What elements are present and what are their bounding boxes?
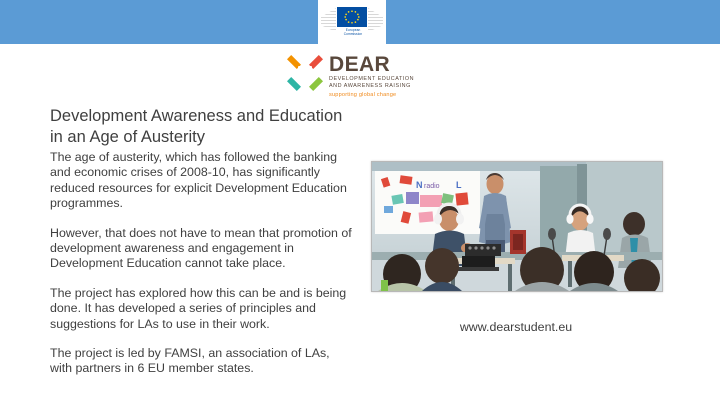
dear-mark-center — [298, 66, 312, 80]
dear-cross-mark-icon — [287, 55, 323, 91]
european-commission-logo: European Commission — [318, 0, 386, 44]
svg-text:radio: radio — [424, 183, 440, 190]
page-title-line1: Development Awareness and Education — [50, 106, 390, 127]
eu-flag-icon — [337, 7, 367, 27]
dear-wordmark: DEAR — [329, 54, 414, 76]
body-paragraph: However, that does not have to mean that… — [50, 226, 355, 272]
dear-subtitle-line1: DEVELOPMENT EDUCATION — [329, 76, 414, 83]
body-paragraph: The project is led by FAMSI, an associat… — [50, 346, 355, 377]
classroom-radio-workshop-photo: N radio L — [371, 161, 663, 292]
body-paragraph: The project has explored how this can be… — [50, 286, 355, 332]
dear-tagline: supporting global change — [329, 91, 414, 99]
body-copy: The age of austerity, which has followed… — [50, 150, 355, 377]
eu-caption-line2: Commission — [334, 32, 372, 36]
dear-logo: DEAR DEVELOPMENT EDUCATION AND AWARENESS… — [287, 54, 457, 102]
svg-text:L: L — [456, 180, 462, 190]
eu-logo-caption: European Commission — [334, 28, 372, 36]
website-url[interactable]: www.dearstudent.eu — [371, 320, 661, 334]
dear-logo-text: DEAR DEVELOPMENT EDUCATION AND AWARENESS… — [329, 54, 414, 99]
page-title: Development Awareness and Education in a… — [50, 106, 390, 148]
page-title-line2: in an Age of Austerity — [50, 127, 390, 148]
svg-text:N: N — [416, 180, 423, 190]
body-paragraph: The age of austerity, which has followed… — [50, 150, 355, 212]
top-banner: European Commission — [0, 0, 720, 44]
dear-subtitle-line2: AND AWARENESS RAISING — [329, 83, 414, 90]
